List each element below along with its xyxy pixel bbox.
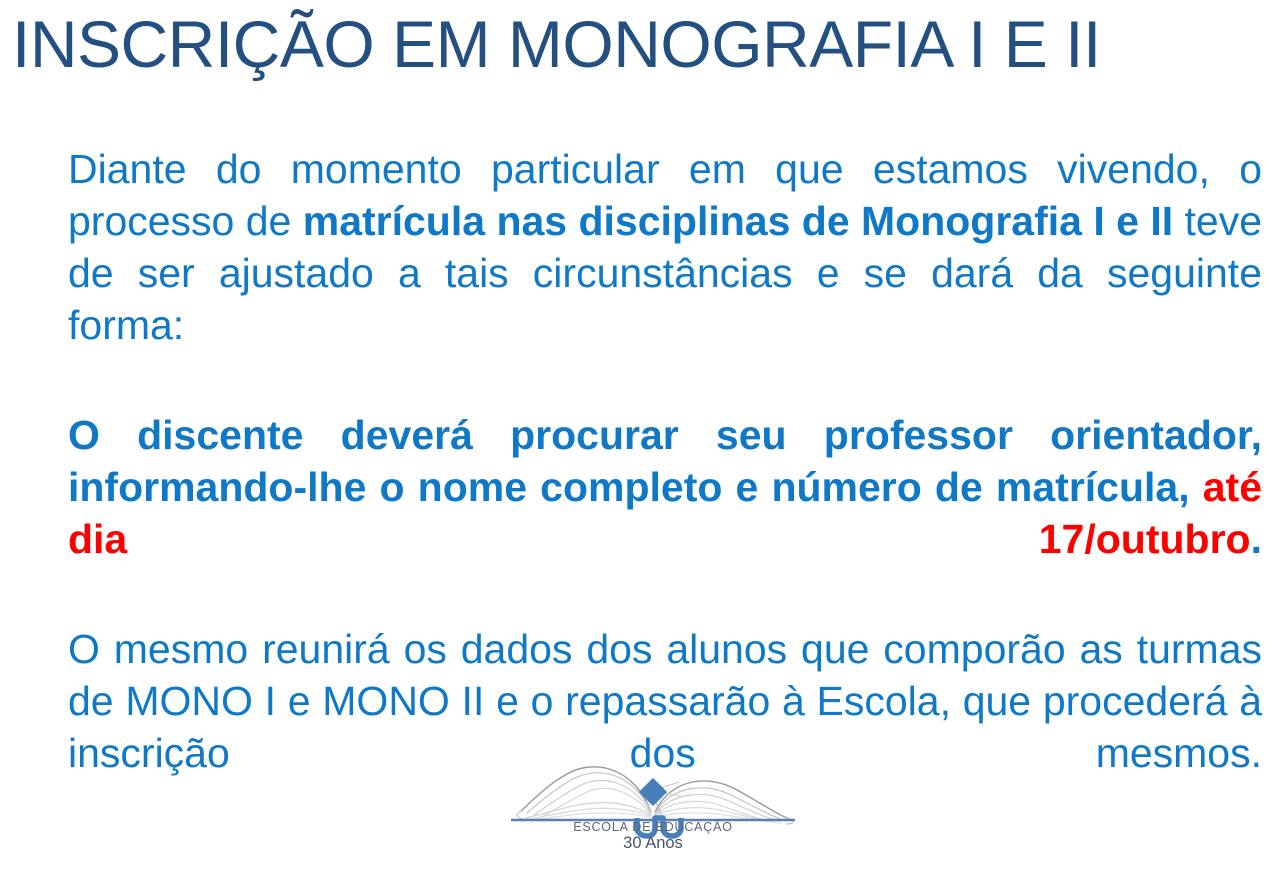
paragraph-2-period: .	[1251, 516, 1262, 562]
paragraph-2: O discente deverá procurar seu professor…	[68, 409, 1262, 617]
logo-school-name: ESCOLA DE EDUCAÇÃO	[503, 820, 803, 834]
logo-text: ESCOLA DE EDUCAÇÃO 30 Anos	[503, 820, 803, 853]
paragraph-2-bold-text: O discente deverá procurar seu professor…	[68, 412, 1262, 510]
logo-anniversary: 30 Anos	[503, 834, 803, 853]
page-title: INSCRIÇÃO EM MONOGRAFIA I E II	[12, 8, 1275, 82]
slide-canvas: INSCRIÇÃO EM MONOGRAFIA I E II Diante do…	[0, 0, 1287, 869]
escola-de-educacao-logo: ESCOLA DE EDUCAÇÃO 30 Anos	[503, 752, 803, 864]
body-content: Diante do momento particular em que esta…	[68, 143, 1262, 831]
paragraph-1: Diante do momento particular em que esta…	[68, 143, 1262, 403]
paragraph-1-bold-emphasis: matrícula nas disciplinas de Monografia …	[303, 198, 1173, 244]
